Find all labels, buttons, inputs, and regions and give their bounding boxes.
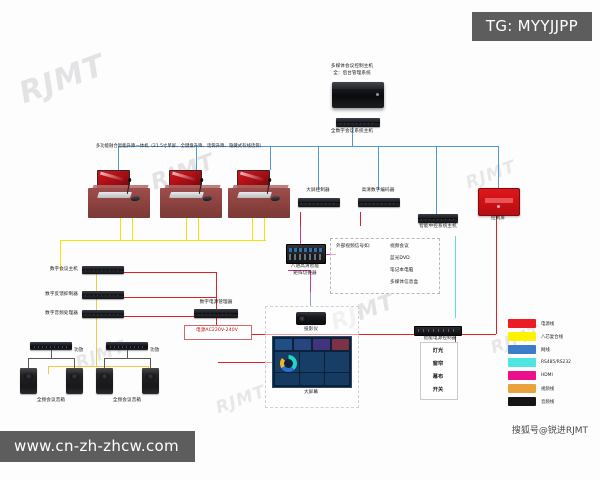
device-control-panel xyxy=(478,188,520,216)
wire-speaker xyxy=(104,358,105,368)
conference-pod xyxy=(228,170,290,220)
url-tag: www.cn-zh-zhcw.com xyxy=(0,431,195,462)
device-amplifier-left xyxy=(30,342,72,350)
legend-label-rs485: RS485/RS232 xyxy=(541,360,571,365)
device-big-screen xyxy=(272,336,352,388)
legend-row: 视频线 xyxy=(508,383,592,394)
tg-tag: TG: MYYJJPP xyxy=(472,12,592,41)
wire-composite xyxy=(264,218,265,240)
legend-row: 网线 xyxy=(508,344,592,355)
conference-pod xyxy=(88,170,150,220)
legend-label-network: 网线 xyxy=(541,347,550,353)
wire-video xyxy=(310,292,311,306)
wire-rs485 xyxy=(455,236,456,318)
label-external-source-4: 多媒体信息盒 xyxy=(390,280,418,287)
wire-speaker xyxy=(104,358,150,359)
wire-composite xyxy=(132,218,133,240)
label-big-screen-controller: 大屏控制器 xyxy=(306,188,329,195)
screen-bottom-tiles xyxy=(275,373,350,385)
control-panel-led xyxy=(497,205,500,208)
legend-row: 八芯复合线 xyxy=(508,331,592,342)
label-external-source-3: 笔记本电脑 xyxy=(390,268,413,275)
label-load-4: 开关 xyxy=(433,387,444,395)
device-multimedia-host xyxy=(332,82,384,108)
label-external-source-1: 视频会议 xyxy=(390,244,409,251)
legend-row: 电源线 xyxy=(508,318,592,329)
wire-speaker xyxy=(127,350,128,358)
legend-swatch-rs485 xyxy=(508,358,536,367)
wire-speaker xyxy=(150,358,151,368)
wire-network xyxy=(436,146,437,214)
wire-speaker xyxy=(74,358,75,368)
label-external-source-2: 蓝光DVD xyxy=(390,256,410,263)
label-amplifier-right: 功放 xyxy=(150,348,159,355)
wire-network xyxy=(498,146,499,188)
label-central-control-host: 智能中控系统主机 xyxy=(419,224,457,231)
wire-network xyxy=(378,146,379,190)
device-digital-conference-mainframe xyxy=(82,266,124,274)
speaker xyxy=(20,368,37,394)
legend-swatch-composite xyxy=(508,332,536,341)
label-load-3: 幕布 xyxy=(433,374,444,382)
label-power-ac: 电源AC220V-240V xyxy=(196,328,238,335)
label-load-1: 灯光 xyxy=(433,348,444,356)
device-audio-processor xyxy=(82,310,124,318)
sohu-credit: 搜狐号@锐进RJMT xyxy=(512,423,588,436)
label-power-manager: 数字电源管理器 xyxy=(200,300,233,307)
wire-speaker xyxy=(51,350,52,358)
wire-network xyxy=(270,146,271,170)
speaker xyxy=(96,368,113,394)
watermark-rjmt: RJMT xyxy=(15,48,110,111)
label-amplifier-left: 功放 xyxy=(74,348,83,355)
device-central-control-host xyxy=(418,214,458,223)
label-projector: 投影仪 xyxy=(304,327,318,334)
wire-speaker xyxy=(28,358,74,359)
device-smart-power-controller xyxy=(414,326,462,336)
cable-legend: 电源线 八芯复合线 网线 RS485/RS232 HDMI 视频线 音频线 xyxy=(508,318,592,409)
wire-network xyxy=(318,146,319,190)
wire-composite-bus xyxy=(60,240,266,241)
wire-power xyxy=(300,212,301,226)
legend-swatch-hdmi xyxy=(508,371,536,380)
legend-swatch-network xyxy=(508,345,536,354)
label-speaker-left: 全频会议音箱 xyxy=(37,398,65,405)
device-big-screen-controller xyxy=(298,198,340,207)
label-multimedia-host: 多媒体会议控制主机 全：后台管理系统 xyxy=(331,64,373,77)
diagram-canvas: RJMT RJMT RJMT RJMT RJMT RJMT RJMT 多媒体会议 xyxy=(0,0,600,480)
conference-pod xyxy=(160,170,222,220)
label-digital-conference-mainframe: 数字会议主机 xyxy=(50,267,78,274)
legend-swatch-audio xyxy=(508,397,536,406)
device-hd-encoder xyxy=(358,198,400,207)
label-control-panel: 控制屏 xyxy=(491,216,505,223)
legend-swatch-power xyxy=(508,319,536,328)
wire-audio xyxy=(48,366,49,374)
label-digital-conference-host: 全数字会议系统主机 xyxy=(331,129,373,136)
legend-label-composite: 八芯复合线 xyxy=(541,334,563,340)
legend-swatch-video xyxy=(508,384,536,393)
legend-label-power: 电源线 xyxy=(541,321,554,327)
label-hd-encoder: 高清数字编码器 xyxy=(362,188,395,195)
wire-composite xyxy=(198,218,199,240)
device-amplifier-right xyxy=(106,342,148,350)
speaker xyxy=(142,368,159,394)
screen-top-tiles xyxy=(275,339,350,350)
label-speaker-right: 全频会议音箱 xyxy=(113,398,141,405)
label-external-sources-heading: 外部视频信号如: xyxy=(336,244,371,251)
wire-composite xyxy=(60,240,61,270)
screen-donut-chart xyxy=(280,355,297,372)
wire-power xyxy=(360,212,361,226)
legend-row: 音频线 xyxy=(508,396,592,407)
legend-label-video: 视频线 xyxy=(541,386,554,392)
device-digital-conference-host xyxy=(336,118,380,127)
label-feedback-suppressor: 数字反馈抑制器 xyxy=(45,292,78,299)
label-audio-processor: 数字音频处理器 xyxy=(45,311,78,318)
label-load-2: 窗帘 xyxy=(433,361,444,369)
wire-audio-chain xyxy=(96,272,97,366)
label-matrix-switcher: 八进高清智能 矩阵切换器 xyxy=(291,264,319,277)
label-desk-note: 多功能融合智能升降一体机（21.5寸单屏、全键盘升降、话筒升降、隐藏式有线话筒） xyxy=(96,144,264,150)
legend-label-hdmi: HDMI xyxy=(541,373,553,378)
label-big-screen: 大屏幕 xyxy=(304,390,318,397)
device-projector xyxy=(296,312,326,325)
legend-row: RS485/RS232 xyxy=(508,357,592,368)
wire-audio-bus xyxy=(48,366,148,367)
wire-speaker xyxy=(28,358,29,368)
watermark-rjmt: RJMT xyxy=(213,382,269,419)
wire-composite xyxy=(120,218,121,240)
matrix-input-row xyxy=(289,248,322,252)
control-panel-display xyxy=(485,198,514,202)
device-matrix-switcher xyxy=(286,244,326,264)
wire-composite xyxy=(252,218,253,240)
legend-row: HDMI xyxy=(508,370,592,381)
wire-composite xyxy=(186,218,187,240)
device-feedback-suppressor xyxy=(82,291,124,299)
device-power-manager xyxy=(194,309,238,318)
matrix-button-row xyxy=(289,254,322,261)
legend-label-audio: 音频线 xyxy=(541,399,554,405)
speaker xyxy=(66,368,83,394)
